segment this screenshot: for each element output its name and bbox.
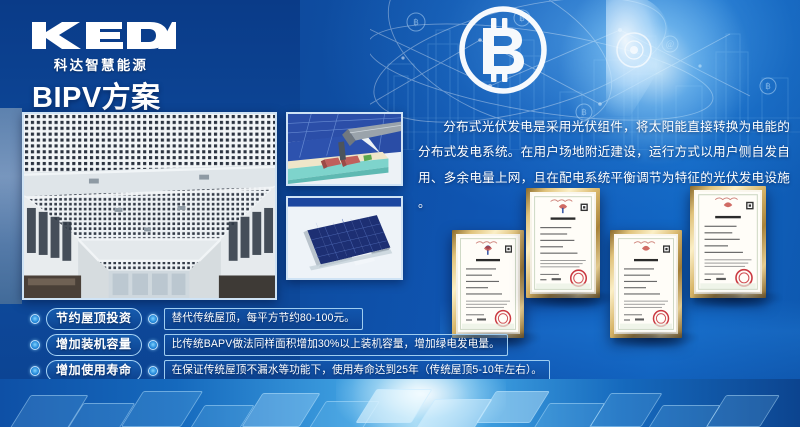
bullet-dot-icon xyxy=(148,340,158,350)
certificate-group xyxy=(452,186,800,346)
company-name-cn: 科达智慧能源 xyxy=(26,54,176,74)
feature-description: 替代传统屋顶，每平方节约80-100元。 xyxy=(164,308,363,329)
bullet-dot-icon xyxy=(30,366,40,376)
page-title: BIPV方案 xyxy=(32,74,161,116)
bullet-dot-icon xyxy=(30,314,40,324)
pv-mounting-detail-3d-diagram xyxy=(286,112,403,186)
svg-text:฿: ฿ xyxy=(413,17,419,27)
hand-touch-interface-icon xyxy=(606,0,756,124)
feature-label: 节约屋顶投资 xyxy=(46,308,142,330)
svg-text:฿: ฿ xyxy=(765,81,771,91)
patent-certificate-2[interactable] xyxy=(526,188,600,298)
bullet-dot-icon xyxy=(30,340,40,350)
poster-canvas: ฿฿ ฿@฿ xyxy=(0,0,800,427)
bullet-dot-icon xyxy=(148,314,158,324)
bipv-skylight-interior-photo xyxy=(22,112,277,300)
feature-list: 节约屋顶投资 替代传统屋顶，每平方节约80-100元。 增加装机容量 比传统BA… xyxy=(30,308,475,386)
feature-label: 增加装机容量 xyxy=(46,334,142,356)
keda-wordmark-icon xyxy=(26,18,176,52)
background-photo-strip xyxy=(0,108,22,304)
brand-logo[interactable]: 科达智慧能源 xyxy=(26,18,176,74)
pv-module-3d-diagram xyxy=(286,196,403,280)
patent-certificate-3[interactable] xyxy=(610,230,682,338)
feature-description: 比传统BAPV做法同样面积增加30%以上装机容量，增加绿电发电量。 xyxy=(164,334,508,355)
bullet-dot-icon xyxy=(148,366,158,376)
patent-certificate-4[interactable] xyxy=(690,186,766,298)
bottom-decorative-band xyxy=(0,379,800,427)
feature-row[interactable]: 增加装机容量 比传统BAPV做法同样面积增加30%以上装机容量，增加绿电发电量。 xyxy=(30,334,475,356)
feature-row[interactable]: 节约屋顶投资 替代传统屋顶，每平方节约80-100元。 xyxy=(30,308,475,330)
bitcoin-symbol-icon xyxy=(455,2,551,98)
